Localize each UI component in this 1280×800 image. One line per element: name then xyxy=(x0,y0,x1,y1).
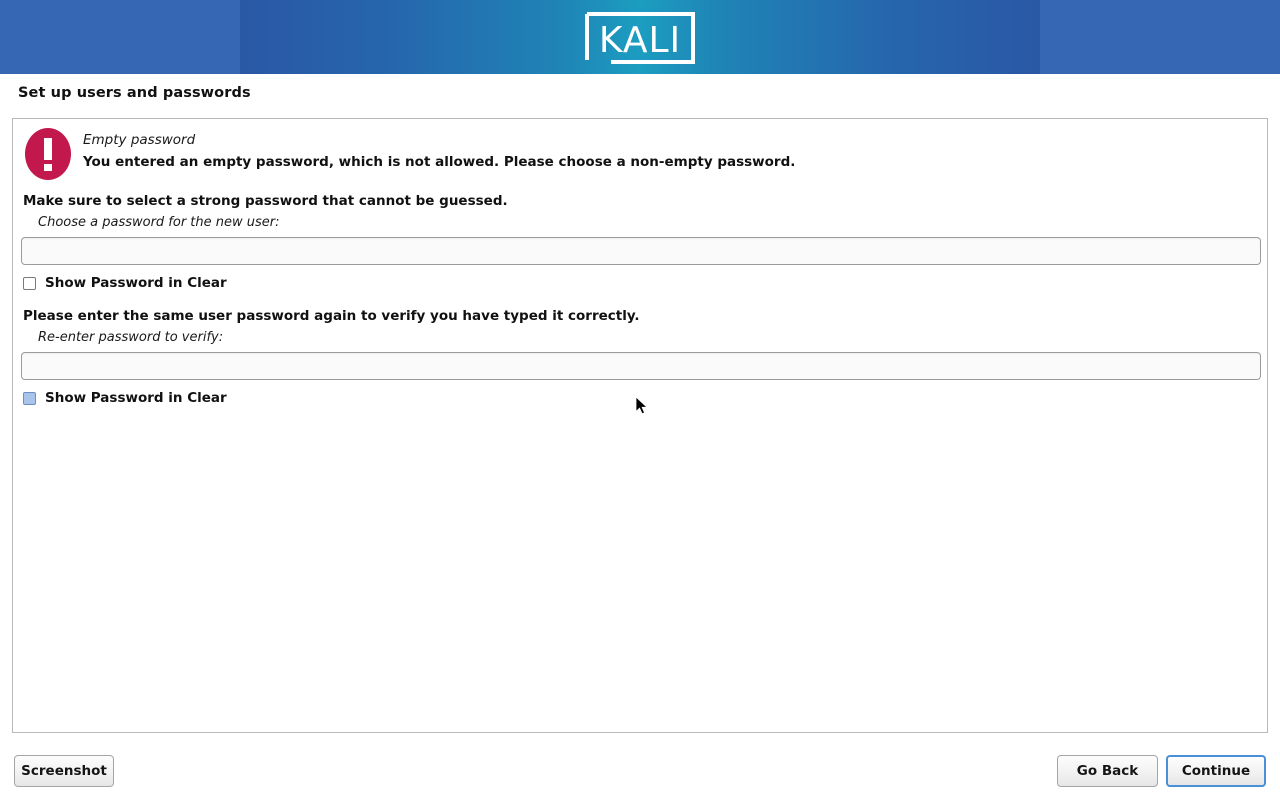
password-input[interactable] xyxy=(21,237,1261,265)
show-password-label-1: Show Password in Clear xyxy=(36,275,227,291)
password-verify-field-label: Re-enter password to verify: xyxy=(38,330,223,345)
error-exclamation-icon xyxy=(23,128,73,180)
password-verify-input[interactable] xyxy=(21,352,1261,380)
instruction-primary: Make sure to select a strong password th… xyxy=(23,193,508,209)
continue-button[interactable]: Continue xyxy=(1166,755,1266,787)
installer-screen: KALI Set up users and passwords Empty pa… xyxy=(0,0,1280,800)
screenshot-button[interactable]: Screenshot xyxy=(14,755,114,787)
kali-banner: KALI xyxy=(0,0,1280,74)
page-title: Set up users and passwords xyxy=(18,85,251,101)
error-title: Empty password xyxy=(83,132,795,149)
show-password-checkbox-1[interactable] xyxy=(23,277,36,290)
show-password-checkbox-row-2[interactable]: Show Password in Clear xyxy=(23,389,227,407)
error-text-group: Empty password You entered an empty pass… xyxy=(73,127,795,172)
show-password-checkbox-row-1[interactable]: Show Password in Clear xyxy=(23,274,227,292)
error-message: You entered an empty password, which is … xyxy=(83,149,795,172)
password-field-label: Choose a password for the new user: xyxy=(38,215,280,230)
svg-text:KALI: KALI xyxy=(599,20,681,61)
go-back-button[interactable]: Go Back xyxy=(1057,755,1158,787)
show-password-checkbox-2[interactable] xyxy=(23,392,36,405)
show-password-label-2: Show Password in Clear xyxy=(36,390,227,406)
instruction-secondary: Please enter the same user password agai… xyxy=(23,308,640,324)
error-message-block: Empty password You entered an empty pass… xyxy=(23,127,1253,180)
main-panel: Empty password You entered an empty pass… xyxy=(12,118,1268,733)
kali-logo-icon: KALI xyxy=(583,10,697,66)
